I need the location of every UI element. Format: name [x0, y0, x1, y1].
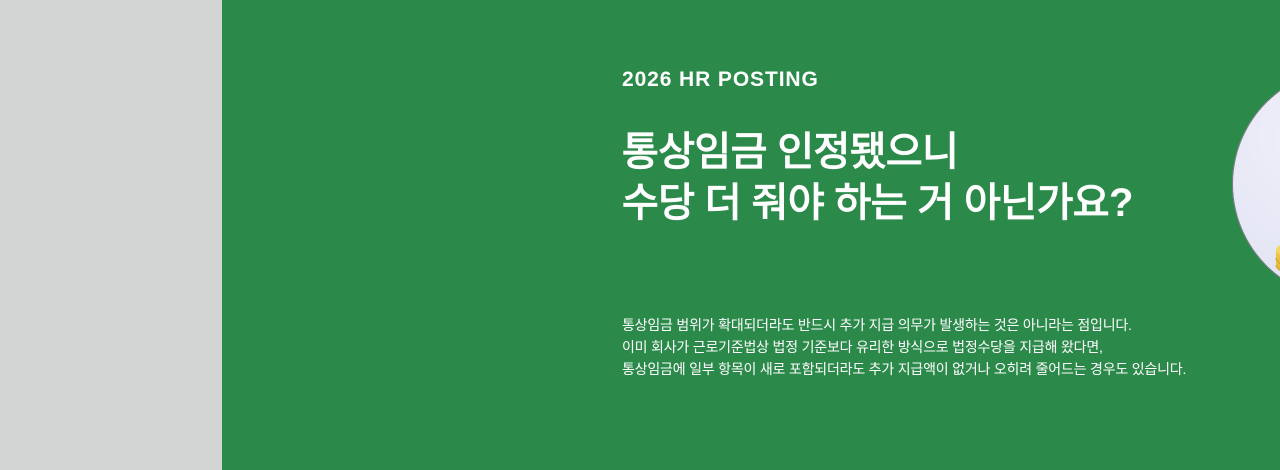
banner-headline: 통상임금 인정됐으니 수당 더 줘야 하는 거 아닌가요?	[622, 127, 1222, 229]
coins-growth-arrow-illustration	[1232, 68, 1280, 300]
illustration-circle-background	[1232, 68, 1280, 300]
paragraph-line-1: 통상임금 범위가 확대되더라도 반드시 추가 지급 의무가 발생하는 것은 아니…	[622, 314, 1262, 336]
headline-line-2: 수당 더 줘야 하는 거 아닌가요?	[622, 178, 1222, 229]
banner-eyebrow: 2026 HR POSTING	[622, 66, 1222, 94]
paragraph-line-3: 통상임금에 일부 항목이 새로 포함되더라도 추가 지급액이 없거나 오히려 줄…	[622, 358, 1262, 380]
coin-stack-short	[1276, 240, 1280, 277]
hr-posting-banner: 2026 HR POSTING 통상임금 인정됐으니 수당 더 줘야 하는 거 …	[0, 0, 1280, 470]
left-side-panel	[0, 0, 222, 470]
banner-paragraph: 통상임금 범위가 확대되더라도 반드시 추가 지급 의무가 발생하는 것은 아니…	[622, 314, 1262, 380]
banner-text-block: 2026 HR POSTING 통상임금 인정됐으니 수당 더 줘야 하는 거 …	[622, 66, 1222, 229]
banner-content-area: 2026 HR POSTING 통상임금 인정됐으니 수당 더 줘야 하는 거 …	[222, 0, 1280, 470]
paragraph-line-2: 이미 회사가 근로기준법상 법정 기준보다 유리한 방식으로 법정수당을 지급해…	[622, 336, 1262, 358]
illustration-artwork	[1232, 68, 1280, 300]
ground-shadow	[1268, 267, 1280, 293]
headline-line-1: 통상임금 인정됐으니	[622, 127, 1222, 178]
